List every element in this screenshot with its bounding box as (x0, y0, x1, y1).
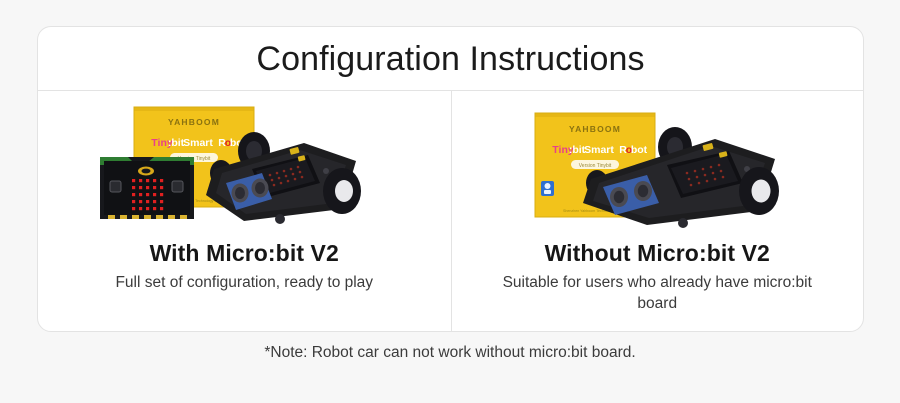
tinybit-kit-without-microbit-illustration: YAHBOOM Tiny :bit Smart R o bot Version … (507, 99, 807, 231)
svg-text:Smart: Smart (183, 137, 213, 149)
product-image-without-microbit: YAHBOOM Tiny :bit Smart R o bot Version … (462, 99, 854, 231)
configuration-instructions-card: Configuration Instructions YAHBOOM Tiny (37, 26, 864, 332)
svg-text:Smart: Smart (584, 144, 614, 156)
svg-text:Version Tinybit: Version Tinybit (579, 163, 612, 169)
standalone-microbit-board-icon (100, 157, 194, 219)
svg-text:YAHBOOM: YAHBOOM (168, 117, 220, 127)
option-heading-with-microbit: With Micro:bit V2 (150, 240, 339, 267)
product-image-with-microbit: YAHBOOM Tiny :bit Smart R o bot Version (48, 99, 441, 231)
box-badge-icon (541, 181, 554, 196)
option-with-microbit[interactable]: YAHBOOM Tiny :bit Smart R o bot Version (38, 91, 451, 331)
option-without-microbit[interactable]: YAHBOOM Tiny :bit Smart R o bot Version … (451, 91, 864, 331)
svg-text:YAHBOOM: YAHBOOM (569, 124, 621, 134)
option-subtitle-without-microbit: Suitable for users who already have micr… (492, 273, 822, 314)
option-heading-without-microbit: Without Micro:bit V2 (545, 240, 770, 267)
option-subtitle-with-microbit: Full set of configuration, ready to play (115, 273, 373, 294)
options-columns: YAHBOOM Tiny :bit Smart R o bot Version (38, 91, 863, 331)
footnote-note: *Note: Robot car can not work without mi… (0, 344, 900, 362)
page-title: Configuration Instructions (38, 27, 863, 91)
svg-text:bot: bot (631, 144, 648, 156)
tinybit-kit-with-microbit-illustration: YAHBOOM Tiny :bit Smart R o bot Version (94, 99, 394, 231)
